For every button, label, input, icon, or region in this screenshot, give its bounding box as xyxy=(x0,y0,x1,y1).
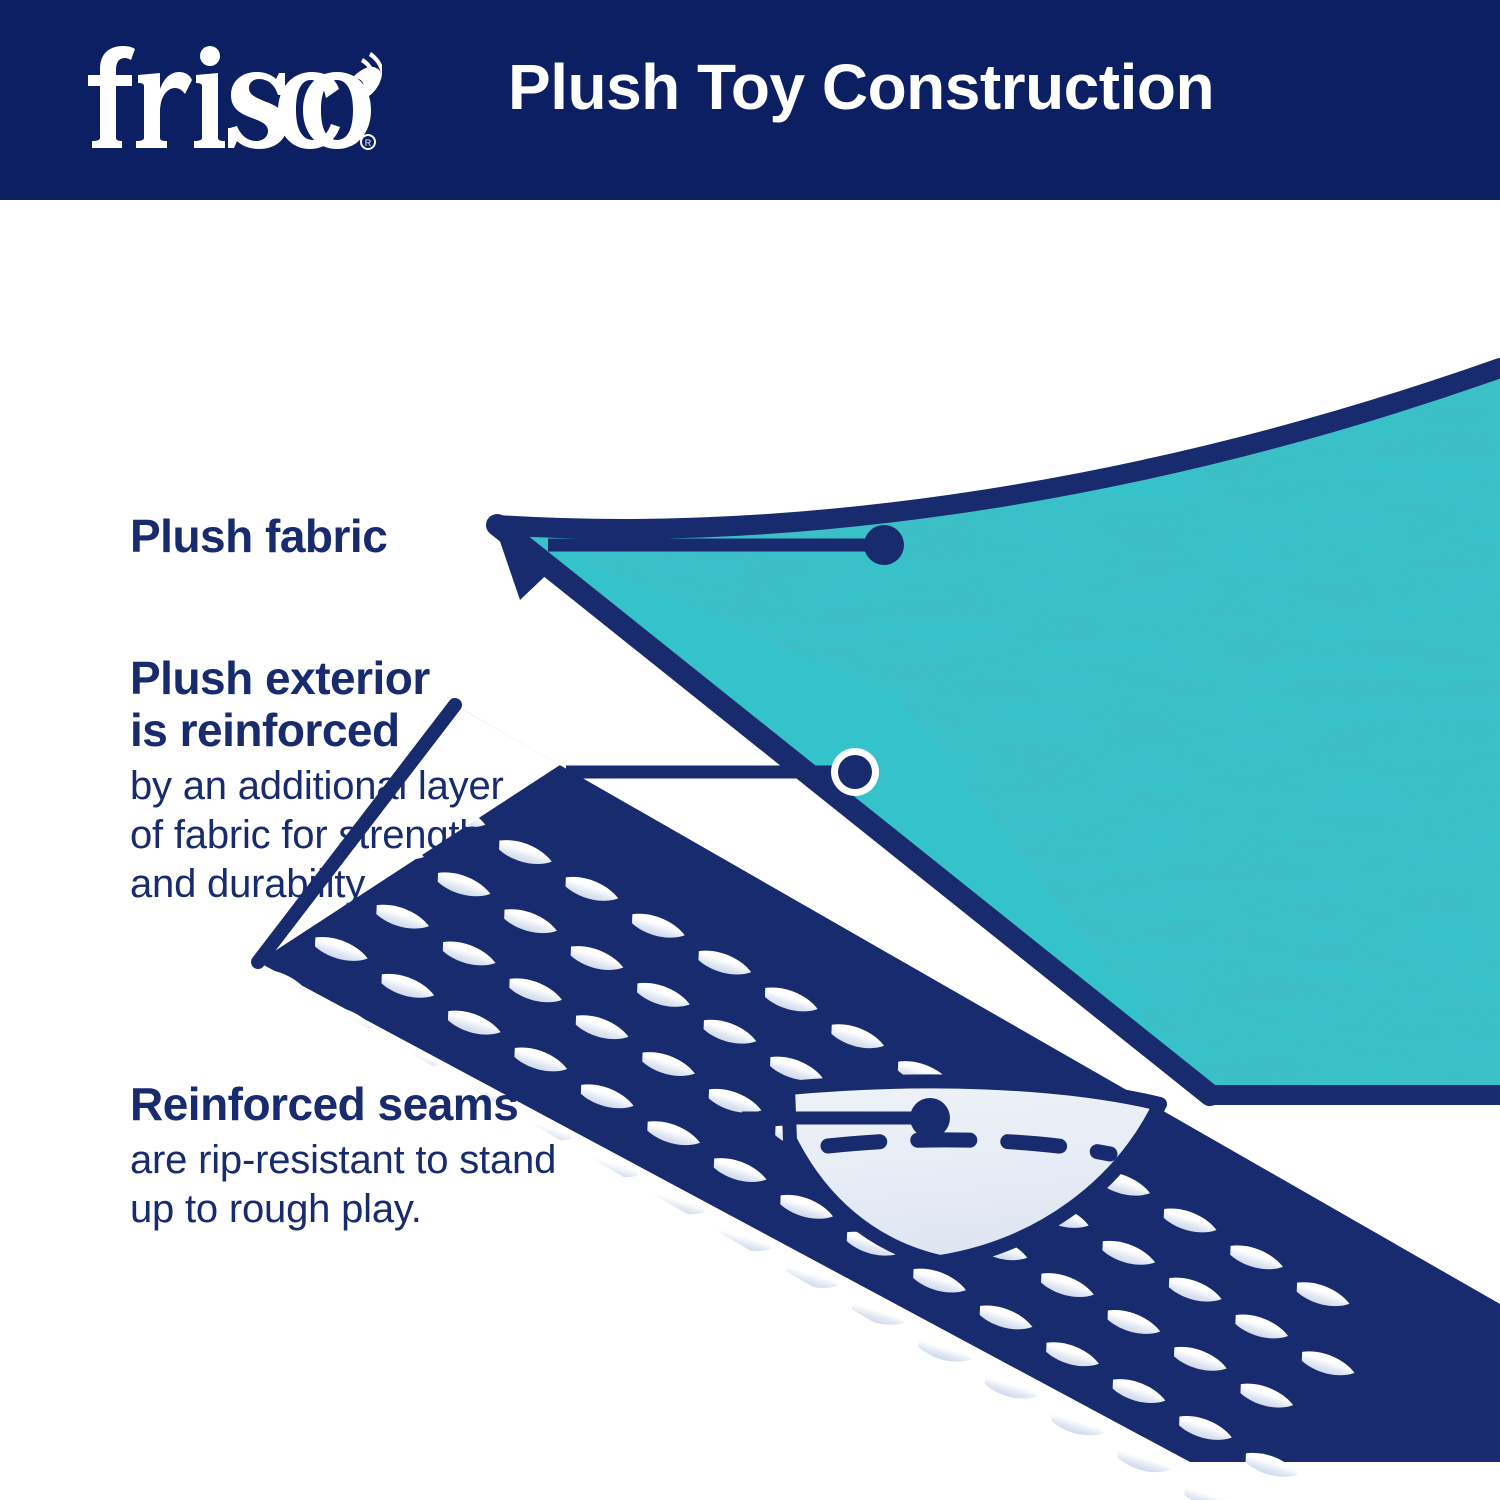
header-bar: R Plush Toy Construction xyxy=(0,0,1500,200)
callout-body-reinforced-seams: are rip-resistant to stand up to rough p… xyxy=(130,1136,556,1234)
marker-dot-plush-fabric xyxy=(864,525,904,565)
callout-heading-reinforced-seams: Reinforced seams xyxy=(130,1078,556,1130)
callout-body-plush-exterior: by an additional layer of fabric for str… xyxy=(130,762,504,909)
callout-heading-plush-fabric: Plush fabric xyxy=(130,510,387,562)
callout-heading-plush-exterior: Plush exterior is reinforced xyxy=(130,652,504,756)
callout-plush-fabric: Plush fabric xyxy=(130,510,387,568)
page-title: Plush Toy Construction xyxy=(508,50,1214,124)
marker-dot-reinforced-seams xyxy=(910,1098,950,1138)
callout-plush-exterior: Plush exterior is reinforced by an addit… xyxy=(130,652,504,909)
frisco-logo: R xyxy=(82,42,382,158)
callout-reinforced-seams: Reinforced seams are rip-resistant to st… xyxy=(130,1078,556,1234)
svg-text:R: R xyxy=(365,138,372,148)
infographic-root: R Plush Toy Construction xyxy=(0,0,1500,1500)
